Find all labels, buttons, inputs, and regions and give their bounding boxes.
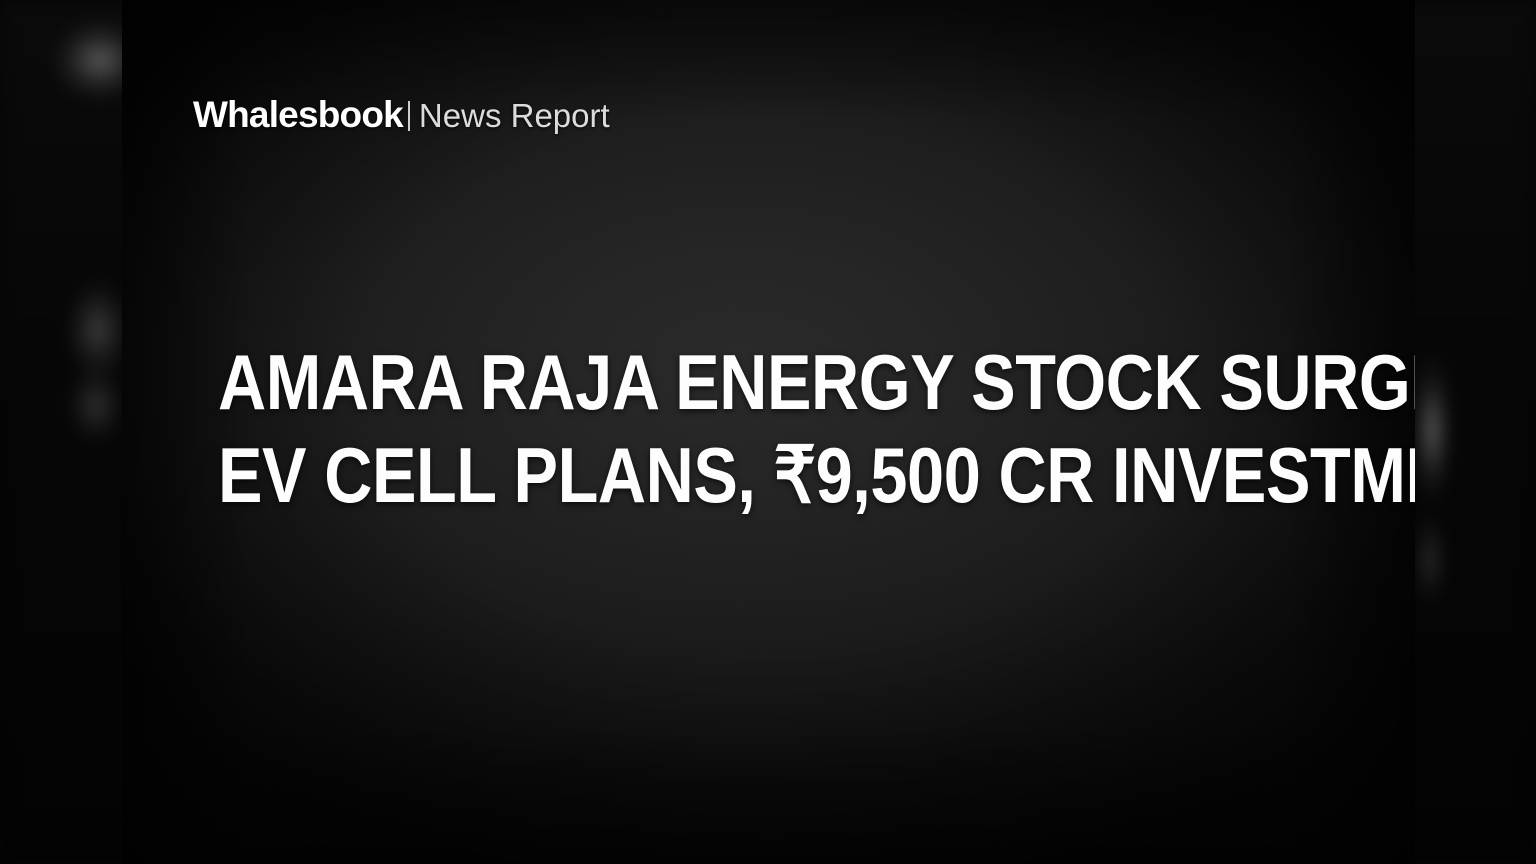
brand-name: Whalesbook — [193, 96, 403, 133]
brand-divider — [408, 101, 410, 131]
headline: AMARA RAJA ENERGY STOCK SURGES ON EV CEL… — [218, 336, 1330, 522]
headline-line-2: EV CELL PLANS, ₹9,500 CR INVESTMENT — [218, 429, 1169, 522]
brand-subtitle: News Report — [419, 99, 610, 132]
news-card-stage: Whalesbook News Report AMARA RAJA ENERGY… — [0, 0, 1536, 864]
headline-line-1: AMARA RAJA ENERGY STOCK SURGES ON — [218, 336, 1169, 429]
brand-lockup: Whalesbook News Report — [193, 96, 610, 133]
news-report-card: Whalesbook News Report AMARA RAJA ENERGY… — [122, 0, 1415, 864]
